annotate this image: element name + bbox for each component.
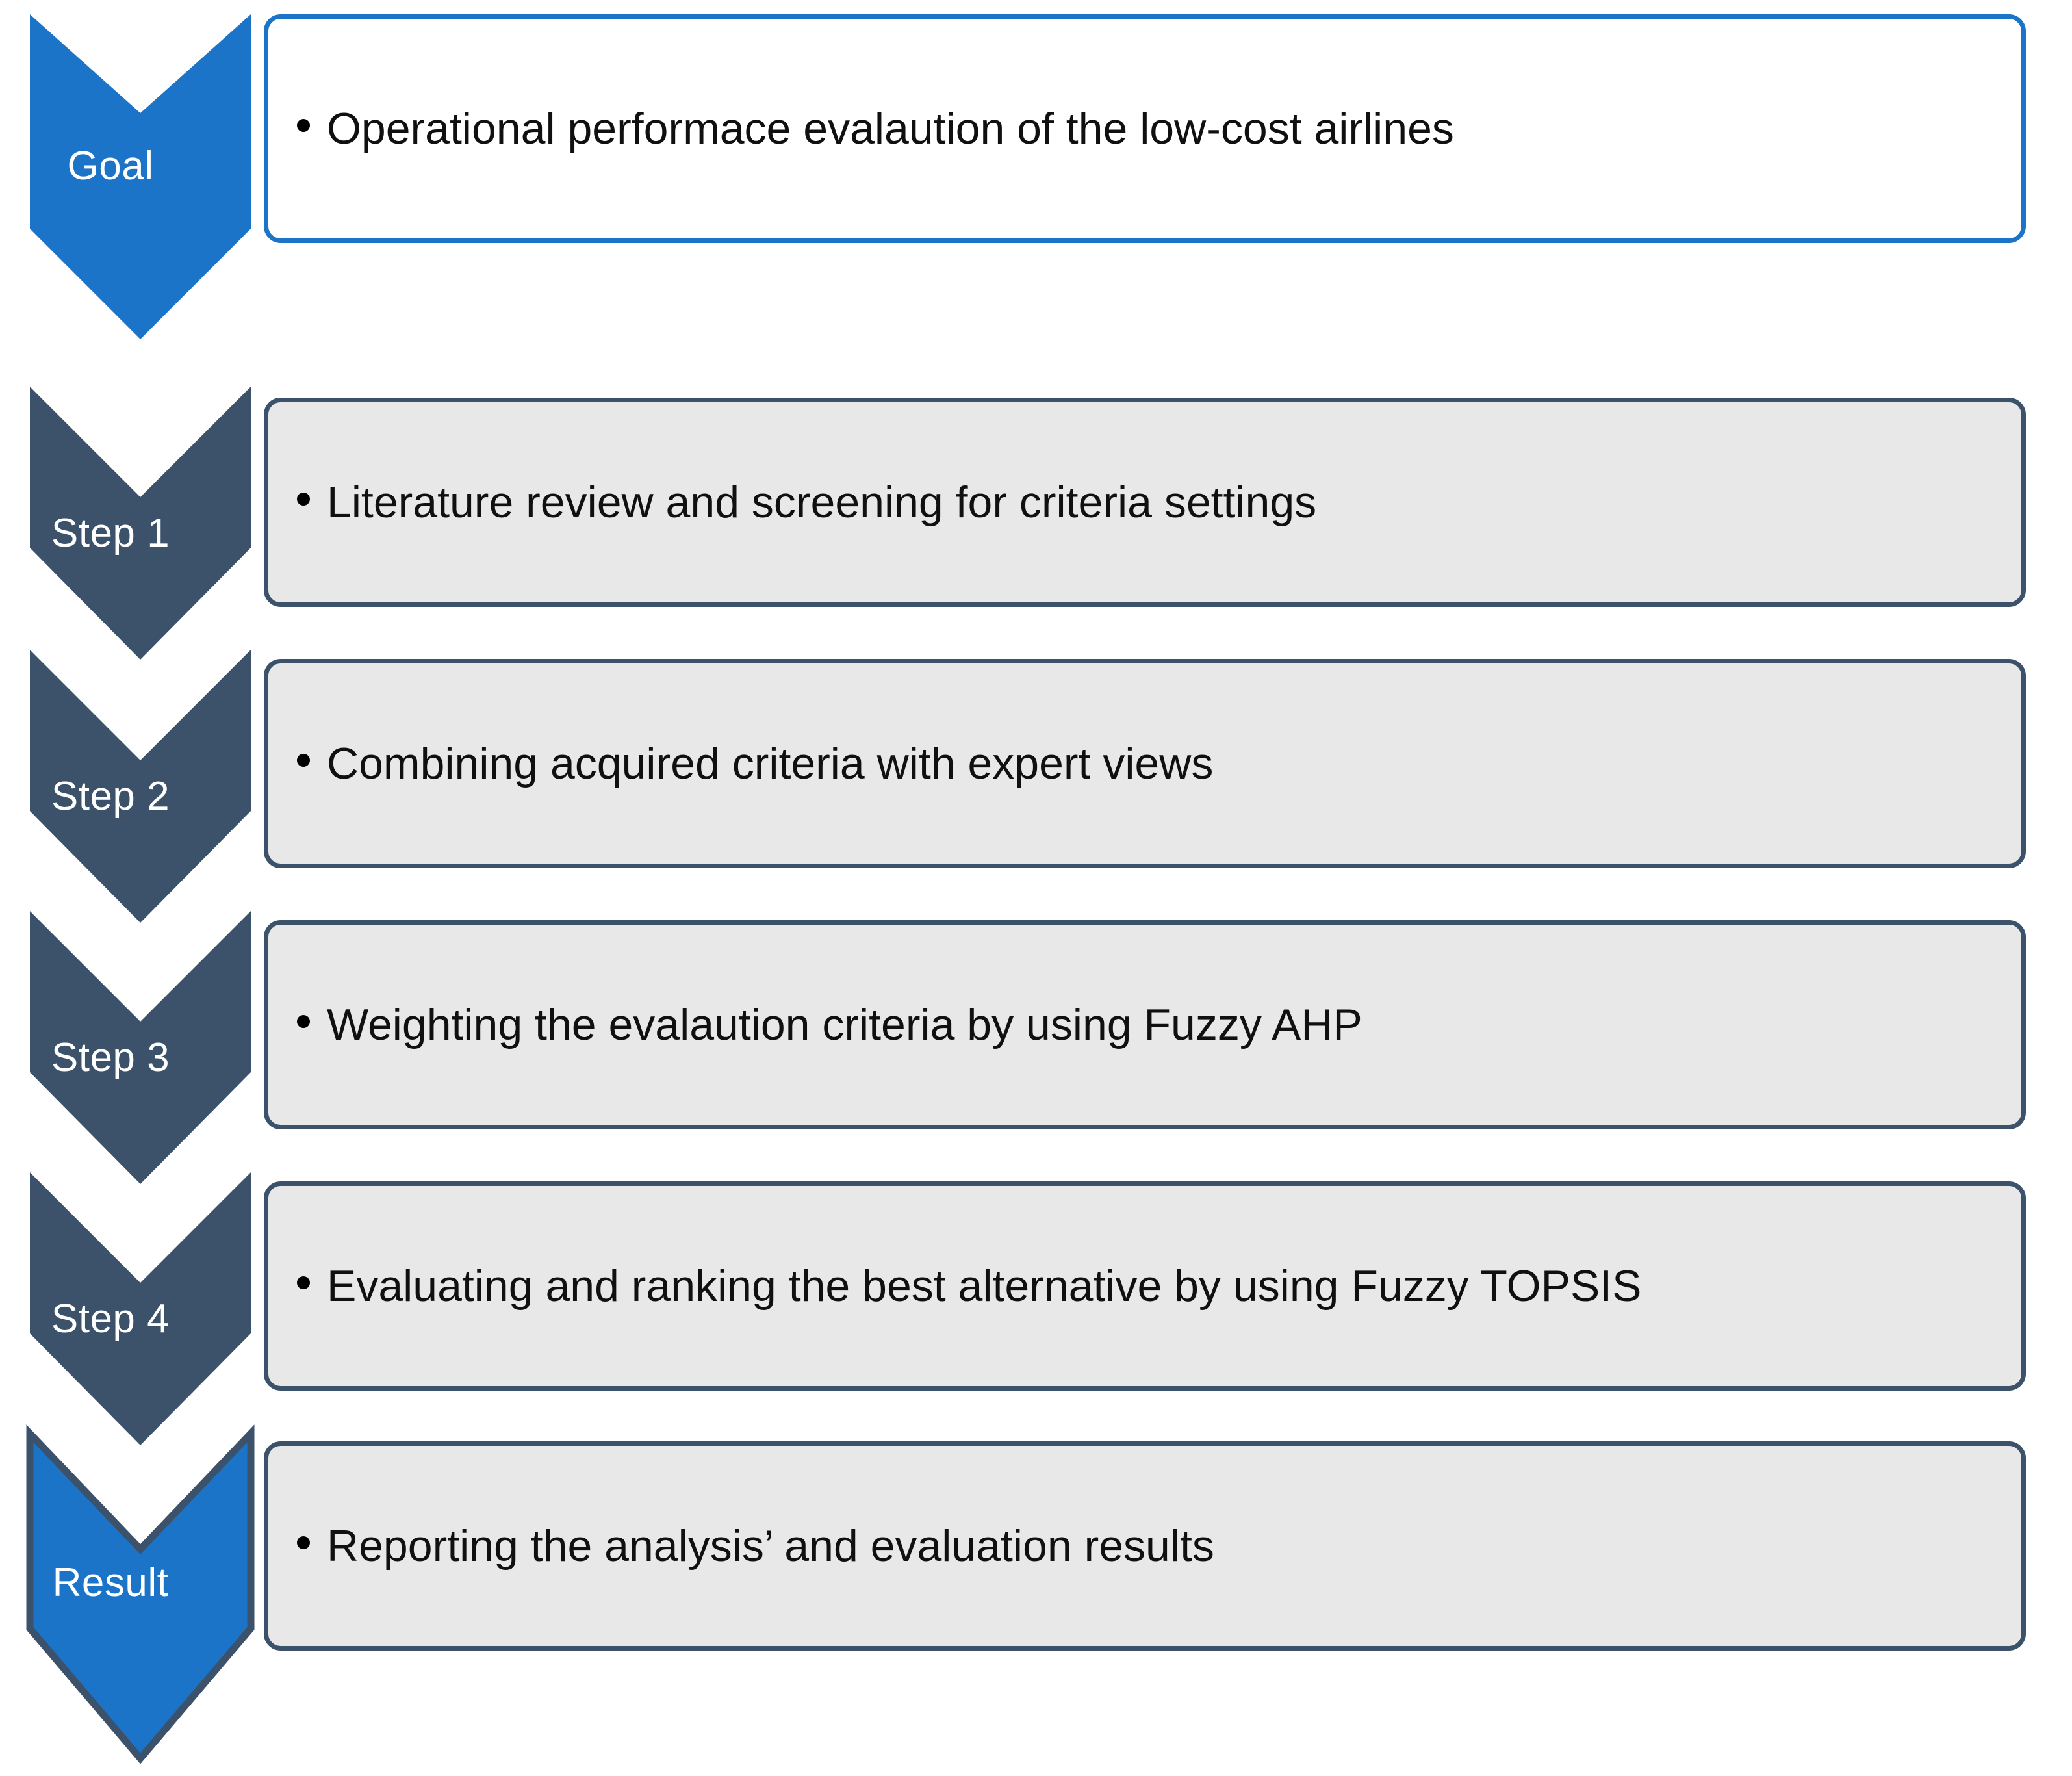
- stage-arrow-step-2[interactable]: [30, 650, 251, 923]
- content-box-step-1[interactable]: Literature review and screening for crit…: [264, 398, 2026, 607]
- bullet-line-step-2: Combining acquired criteria with expert …: [268, 740, 1233, 788]
- bullet-dot-icon: [297, 493, 310, 506]
- bullet-line-step-1: Literature review and screening for crit…: [268, 478, 1336, 527]
- stage-arrow-step-1[interactable]: [30, 387, 251, 660]
- content-box-step-4[interactable]: Evaluating and ranking the best alternat…: [264, 1181, 2026, 1391]
- bullet-line-result: Reporting the analysis’ and evaluation r…: [268, 1522, 1234, 1571]
- bullet-dot-icon: [297, 754, 310, 767]
- content-box-step-2[interactable]: Combining acquired criteria with expert …: [264, 659, 2026, 868]
- bullet-line-goal: Operational performace evalaution of the…: [268, 105, 1474, 153]
- bullet-text-goal: Operational performace evalaution of the…: [327, 105, 1454, 153]
- chevron-down-icon: [30, 650, 251, 923]
- bullet-dot-icon: [297, 1536, 310, 1549]
- stage-arrow-result[interactable]: [30, 1434, 251, 1758]
- content-box-goal[interactable]: Operational performace evalaution of the…: [264, 14, 2026, 243]
- bullet-dot-icon: [297, 1276, 310, 1289]
- chevron-down-icon: [30, 387, 251, 660]
- stage-arrow-step-4[interactable]: [30, 1172, 251, 1445]
- chevron-down-icon: [30, 14, 251, 339]
- chevron-down-icon: [30, 1172, 251, 1445]
- chevron-down-icon: [30, 911, 251, 1184]
- flowchart-diagram: Goal Operational performace evalaution o…: [0, 0, 2072, 1776]
- stage-arrow-goal[interactable]: [30, 14, 251, 339]
- stage-arrow-step-3[interactable]: [30, 911, 251, 1184]
- bullet-text-step-1: Literature review and screening for crit…: [327, 478, 1316, 527]
- bullet-line-step-4: Evaluating and ranking the best alternat…: [268, 1262, 1661, 1311]
- bullet-text-step-2: Combining acquired criteria with expert …: [327, 740, 1213, 788]
- chevron-down-icon: [30, 1434, 251, 1758]
- bullet-text-step-3: Weighting the evalaution criteria by usi…: [327, 1001, 1362, 1049]
- bullet-dot-icon: [297, 1015, 310, 1028]
- bullet-text-result: Reporting the analysis’ and evaluation r…: [327, 1522, 1214, 1571]
- bullet-text-step-4: Evaluating and ranking the best alternat…: [327, 1262, 1642, 1311]
- content-box-result[interactable]: Reporting the analysis’ and evaluation r…: [264, 1441, 2026, 1651]
- content-box-step-3[interactable]: Weighting the evalaution criteria by usi…: [264, 920, 2026, 1129]
- bullet-dot-icon: [297, 119, 310, 132]
- bullet-line-step-3: Weighting the evalaution criteria by usi…: [268, 1001, 1382, 1049]
